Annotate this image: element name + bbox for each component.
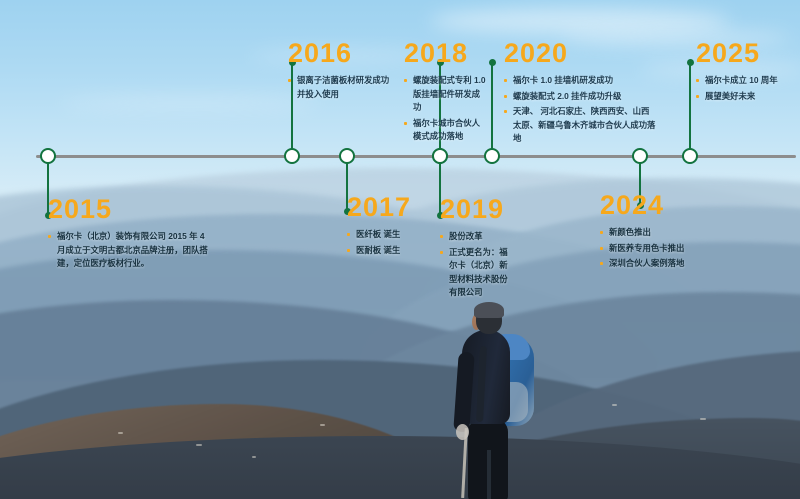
- milestone-year-2024: 2024: [600, 192, 718, 219]
- milestone-2017[interactable]: 2017医纤板 诞生医耐板 诞生: [347, 194, 425, 259]
- terrain-speck: [252, 456, 256, 458]
- milestone-bullet: 展望美好未来: [696, 90, 792, 104]
- milestone-bullets-2019: 股份改革正式更名为：福尔卡（北京）新型材料技术股份有限公司: [440, 230, 512, 300]
- timeline-node-2019[interactable]: [432, 148, 448, 164]
- milestone-2015[interactable]: 2015福尔卡（北京）装饰有限公司 2015 年 4 月成立于文明古都北京品牌注…: [48, 196, 208, 273]
- hiker-figure: [432, 300, 552, 499]
- hiker-beanie: [474, 302, 504, 318]
- terrain-speck: [196, 444, 202, 446]
- hiker-hand: [456, 424, 469, 440]
- timeline-node-2015[interactable]: [40, 148, 56, 164]
- milestone-bullet: 银离子洁菌板材研发成功并投入使用: [288, 74, 390, 101]
- timeline-stem-2025: [689, 62, 691, 154]
- milestone-bullets-2025: 福尔卡成立 10 周年展望美好未来: [696, 74, 792, 103]
- cloud: [60, 96, 320, 110]
- terrain-speck: [320, 424, 325, 426]
- timeline-node-2024[interactable]: [632, 148, 648, 164]
- timeline-node-2017[interactable]: [339, 148, 355, 164]
- milestone-2020[interactable]: 2020福尔卡 1.0 挂墙机研发成功螺旋装配式 2.0 挂件成功升级天津、 河…: [504, 40, 656, 148]
- timeline-stem-cap-2025: [687, 59, 694, 66]
- milestone-year-2016: 2016: [288, 40, 390, 67]
- milestone-bullets-2017: 医纤板 诞生医耐板 诞生: [347, 228, 425, 257]
- milestone-bullet: 股份改革: [440, 230, 512, 244]
- milestone-2024[interactable]: 2024新颜色推出新医养专用色卡推出深圳合伙人案例落地: [600, 192, 718, 273]
- milestone-bullet: 福尔卡 1.0 挂墙机研发成功: [504, 74, 656, 88]
- milestone-bullet: 福尔卡（北京）装饰有限公司 2015 年 4 月成立于文明古都北京品牌注册，团队…: [48, 230, 208, 271]
- milestone-bullet: 螺旋装配式 2.0 挂件成功升级: [504, 90, 656, 104]
- terrain-speck: [700, 418, 706, 420]
- milestone-bullet: 福尔卡城市合伙人模式成功落地: [404, 117, 488, 144]
- milestone-2025[interactable]: 2025福尔卡成立 10 周年展望美好未来: [696, 40, 792, 105]
- hiker-leg-gap: [487, 450, 491, 499]
- milestone-2019[interactable]: 2019股份改革正式更名为：福尔卡（北京）新型材料技术股份有限公司: [440, 196, 512, 302]
- milestone-bullet: 螺旋装配式专利 1.0 版挂墙配件研发成功: [404, 74, 488, 115]
- milestone-2018[interactable]: 2018螺旋装配式专利 1.0 版挂墙配件研发成功福尔卡城市合伙人模式成功落地: [404, 40, 488, 146]
- milestone-bullets-2024: 新颜色推出新医养专用色卡推出深圳合伙人案例落地: [600, 226, 718, 271]
- milestone-bullet: 天津、 河北石家庄、陕西西安、山西太原、新疆乌鲁木齐城市合伙人成功落地: [504, 105, 656, 146]
- terrain-speck: [612, 404, 617, 406]
- milestone-year-2025: 2025: [696, 40, 792, 67]
- terrain-speck: [118, 432, 123, 434]
- milestone-bullet: 新医养专用色卡推出: [600, 242, 718, 256]
- milestone-year-2020: 2020: [504, 40, 656, 67]
- milestone-2016[interactable]: 2016银离子洁菌板材研发成功并投入使用: [288, 40, 390, 103]
- milestone-bullets-2015: 福尔卡（北京）装饰有限公司 2015 年 4 月成立于文明古都北京品牌注册，团队…: [48, 230, 208, 271]
- timeline-node-2025[interactable]: [682, 148, 698, 164]
- milestone-bullet: 正式更名为：福尔卡（北京）新型材料技术股份有限公司: [440, 246, 512, 300]
- milestone-bullet: 深圳合伙人案例落地: [600, 257, 718, 271]
- infographic-canvas: 2015福尔卡（北京）装饰有限公司 2015 年 4 月成立于文明古都北京品牌注…: [0, 0, 800, 499]
- milestone-bullet: 福尔卡成立 10 周年: [696, 74, 792, 88]
- milestone-bullets-2020: 福尔卡 1.0 挂墙机研发成功螺旋装配式 2.0 挂件成功升级天津、 河北石家庄…: [504, 74, 656, 146]
- milestone-bullets-2016: 银离子洁菌板材研发成功并投入使用: [288, 74, 390, 101]
- milestone-bullet: 医纤板 诞生: [347, 228, 425, 242]
- timeline-node-2020[interactable]: [484, 148, 500, 164]
- milestone-bullet: 新颜色推出: [600, 226, 718, 240]
- milestone-bullet: 医耐板 诞生: [347, 244, 425, 258]
- timeline-stem-cap-2020: [489, 59, 496, 66]
- milestone-year-2019: 2019: [440, 196, 512, 223]
- milestone-year-2018: 2018: [404, 40, 488, 67]
- timeline-node-2016[interactable]: [284, 148, 300, 164]
- milestone-year-2017: 2017: [347, 194, 425, 221]
- timeline-stem-2020: [491, 62, 493, 154]
- milestone-year-2015: 2015: [48, 196, 208, 223]
- milestone-bullets-2018: 螺旋装配式专利 1.0 版挂墙配件研发成功福尔卡城市合伙人模式成功落地: [404, 74, 488, 144]
